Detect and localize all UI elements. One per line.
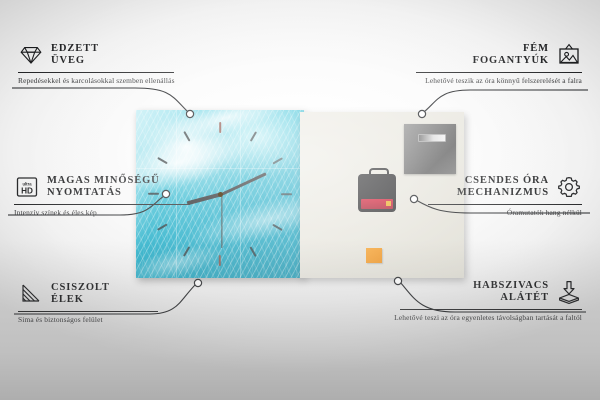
feature-description: Lehetővé teszik az óra könnyű felszerelé… [382,76,582,86]
glass-reflection-line [136,168,304,169]
glass-reflection-line [240,110,241,278]
feature-divider [14,204,190,205]
feature-tempered-glass: EDZETTÜVEG Repedésekkel és karcolásokkal… [18,40,218,86]
feature-title: CSISZOLTÉLEK [51,282,110,307]
feature-high-quality-print: ultra HD MAGAS MINŐSÉGŰNYOMTATÁS Intenzí… [14,172,214,218]
feature-header: FÉMFOGANTYÚK [382,40,582,70]
feature-description: Repedésekkel és karcolásokkal szemben el… [18,76,218,86]
feature-divider [428,204,582,205]
diamond-icon [18,42,44,68]
feature-title: FÉMFOGANTYÚK [473,43,549,68]
gear-icon [556,174,582,200]
clock-tick [219,255,221,266]
feature-header: CSISZOLTÉLEK [18,279,218,309]
infographic-canvas: EDZETTÜVEG Repedésekkel és karcolásokkal… [0,0,600,400]
feature-description: Lehetővé teszi az óra egyenletes távolsá… [382,313,582,323]
connector-line-tempered-glass [12,88,188,112]
feature-header: ultra HD MAGAS MINŐSÉGŰNYOMTATÁS [14,172,214,202]
feature-header: HABSZIVACSALÁTÉT [382,277,582,307]
svg-text:HD: HD [21,186,33,195]
feature-description: Intenzív színek és éles kép [14,208,214,218]
feature-divider [400,309,582,310]
foam-pad-sample [366,248,382,263]
feature-title: HABSZIVACSALÁTÉT [473,280,549,305]
feature-polished-edges: CSISZOLTÉLEK Sima és biztonságos felület [18,279,218,325]
hanger-slot [418,134,446,142]
connector-line-handles [424,90,588,112]
clock-tick [281,193,292,195]
feature-title: EDZETTÜVEG [51,43,99,68]
feature-header: CSENDES ÓRAMECHANIZMUS [382,172,582,202]
clock-tick [219,122,221,133]
polished-edge-icon [18,281,44,307]
feature-silent-mechanism: CSENDES ÓRAMECHANIZMUS Óramutatók hang n… [382,172,582,218]
feature-divider [18,311,158,312]
feature-description: Sima és biztonságos felület [18,315,218,325]
foam-pad-icon [556,279,582,305]
feature-title: CSENDES ÓRAMECHANIZMUS [457,175,549,200]
feature-divider [416,72,582,73]
feature-divider [18,72,174,73]
picture-hanger-icon [556,42,582,68]
metal-hanger-plate [404,124,456,174]
feature-description: Óramutatók hang nélkül [382,208,582,218]
ultra-hd-icon: ultra HD [14,174,40,200]
clock-center-hub [218,192,223,197]
feature-metal-handles: FÉMFOGANTYÚK Lehetővé teszik az óra könn… [382,40,582,86]
feature-foam-pad: HABSZIVACSALÁTÉT Lehetővé teszi az óra e… [382,277,582,323]
feature-title: MAGAS MINŐSÉGŰNYOMTATÁS [47,175,160,200]
feature-header: EDZETTÜVEG [18,40,218,70]
